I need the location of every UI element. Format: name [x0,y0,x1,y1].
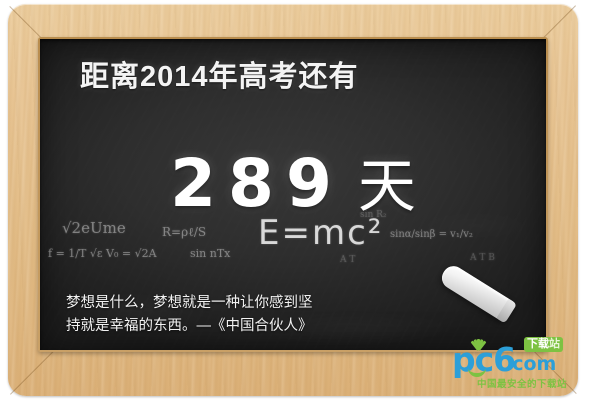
pc6-watermark: pc6 .com 下载站 中国最安全的下载站 [452,338,588,394]
countdown-display: 289天 [40,151,546,217]
formula-fragment-3: A T B [470,253,495,263]
chalkboard: 距离2014年高考还有 289天 E=mc² √2eUme R=ρℓ/S f =… [40,39,546,350]
countdown-days-number: 289 [170,145,344,222]
frame-mitre-bottom-left [10,350,55,395]
formula-resistance: R=ρℓ/S [162,225,206,240]
formula-sqrt-term: √2eUme [62,219,126,237]
watermark-tagline: 中国最安全的下载站 [477,376,567,390]
watermark-badge-main: 下载 [527,338,549,350]
watermark-domain: .com [505,355,556,374]
watermark-badge-alt: 站 [549,338,560,350]
chalk-stick-tip [496,299,517,324]
quote-line-2: 持就是幸福的东西。—《中国合伙人》 [66,315,466,338]
screenshot-root: 距离2014年高考还有 289天 E=mc² √2eUme R=ρℓ/S f =… [0,0,600,406]
quote-text: 梦想是什么，梦想就是一种让你感到坚 持就是幸福的东西。—《中国合伙人》 [66,292,466,338]
watermark-badge: 下载站 [524,337,563,352]
countdown-days-unit: 天 [358,154,416,219]
headline-text: 距离2014年高考还有 [80,62,359,92]
formula-sin-term: sin nTx [190,247,230,260]
formula-fragment-2: A T [340,255,355,265]
quote-line-1: 梦想是什么，梦想就是一种让你感到坚 [66,292,466,315]
formula-snell-law: sinα/sinβ = v₁/v₂ [390,229,473,240]
formula-row-two: f = 1/T √ε V₀ = √2A [48,247,157,260]
